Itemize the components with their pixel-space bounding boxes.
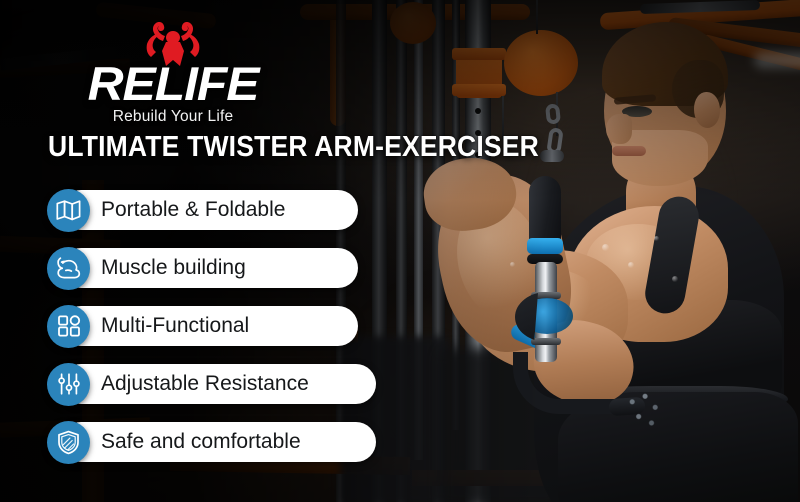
flexed-bicep-icon: [47, 247, 90, 290]
feature-label: Multi-Functional: [101, 314, 265, 338]
feature-item-portable-foldable[interactable]: Portable & Foldable: [47, 188, 325, 232]
folded-map-icon: [47, 189, 90, 232]
feature-item-safe-comfortable[interactable]: Safe and comfortable: [47, 420, 325, 464]
shield-check-icon: [47, 421, 90, 464]
feature-item-adjustable-resistance[interactable]: Adjustable Resistance: [47, 362, 325, 406]
brand-logo: RELIFE Rebuild Your Life: [48, 20, 298, 126]
banner-content: RELIFE Rebuild Your Life ULTIMATE TWISTE…: [0, 0, 800, 502]
feature-label: Muscle building: [101, 256, 262, 280]
page-title: ULTIMATE TWISTER ARM-EXERCISER: [48, 131, 539, 163]
grid-shapes-icon: [47, 305, 90, 348]
feature-item-muscle-building[interactable]: Muscle building: [47, 246, 325, 290]
feature-list: Portable & Foldable Muscle building: [47, 188, 325, 478]
brand-tagline: Rebuild Your Life: [48, 108, 298, 126]
slider-controls-icon: [47, 363, 90, 406]
feature-label: Safe and comfortable: [101, 430, 317, 454]
feature-label: Portable & Foldable: [101, 198, 301, 222]
brand-wordmark: RELIFE: [41, 60, 306, 108]
product-banner: RELIFE Rebuild Your Life ULTIMATE TWISTE…: [0, 0, 800, 502]
feature-label: Adjustable Resistance: [101, 372, 325, 396]
feature-item-multi-functional[interactable]: Multi-Functional: [47, 304, 325, 348]
